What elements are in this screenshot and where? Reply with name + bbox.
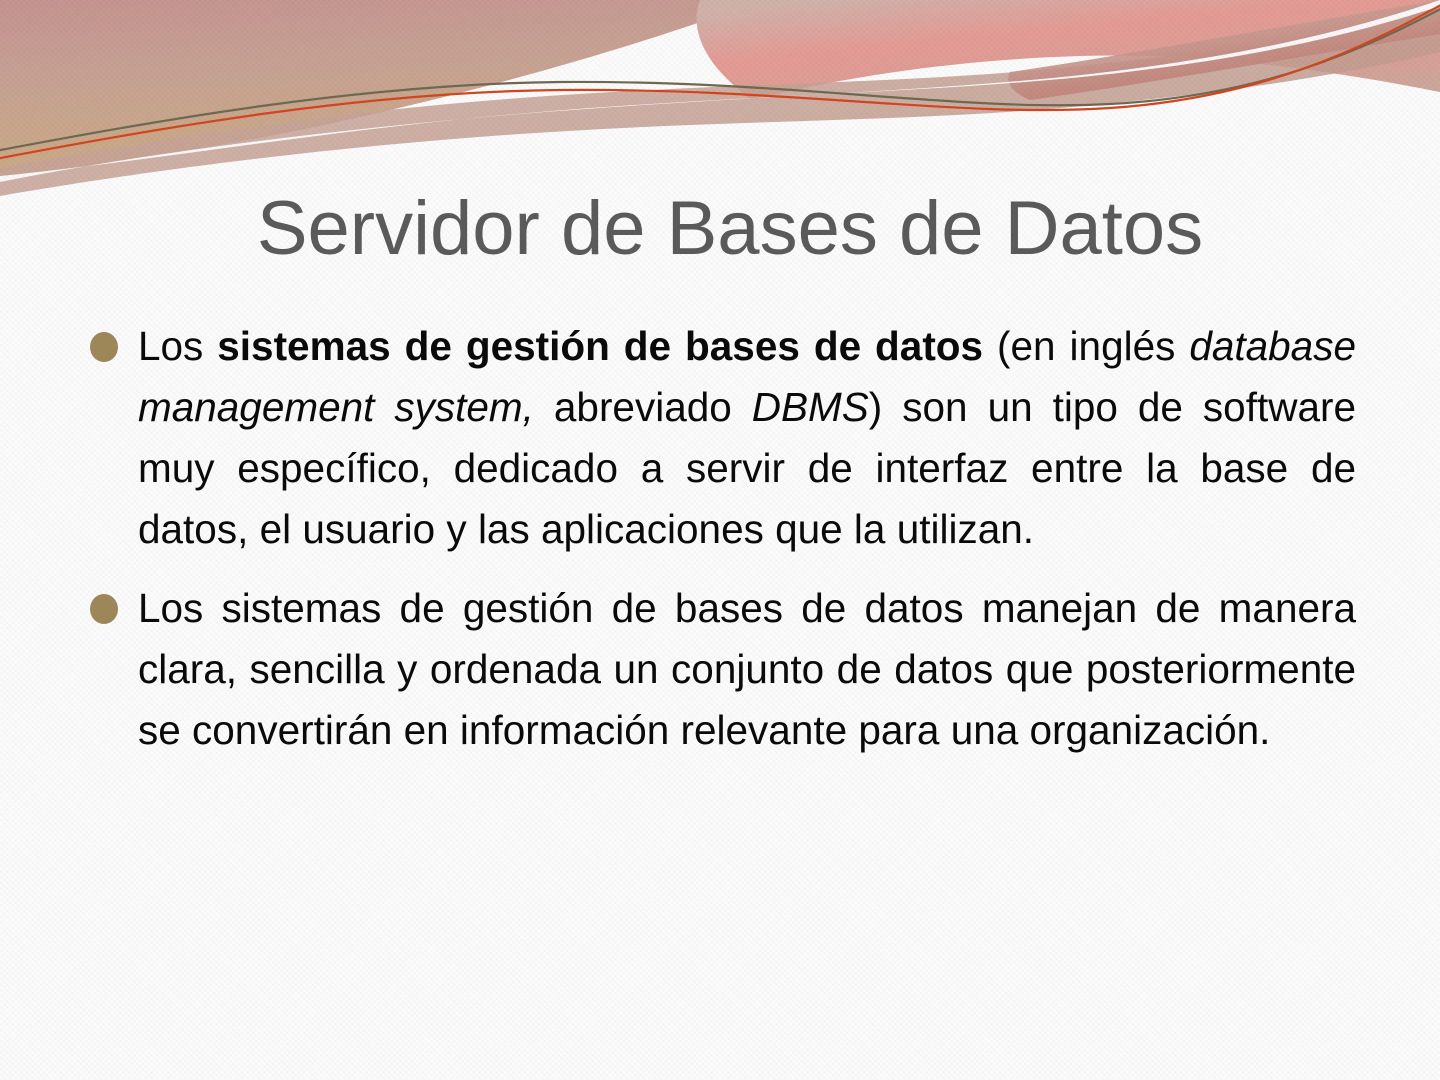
bullet-circle-icon (90, 332, 118, 362)
page-title: Servidor de Bases de Datos (70, 190, 1390, 268)
bullet-item-2-text: Los sistemas de gestión de bases de dato… (138, 578, 1356, 761)
bullet-item-2: Los sistemas de gestión de bases de dato… (84, 578, 1356, 761)
bullet-circle-icon (90, 594, 118, 624)
slide-content: Servidor de Bases de Datos Los sistemas … (0, 0, 1440, 1080)
bullet-item-1-text: Los sistemas de gestión de bases de dato… (138, 316, 1356, 560)
presentation-slide: Servidor de Bases de Datos Los sistemas … (0, 0, 1440, 1080)
bullet-item-1: Los sistemas de gestión de bases de dato… (84, 316, 1356, 560)
body-placeholder: Los sistemas de gestión de bases de dato… (84, 316, 1356, 779)
